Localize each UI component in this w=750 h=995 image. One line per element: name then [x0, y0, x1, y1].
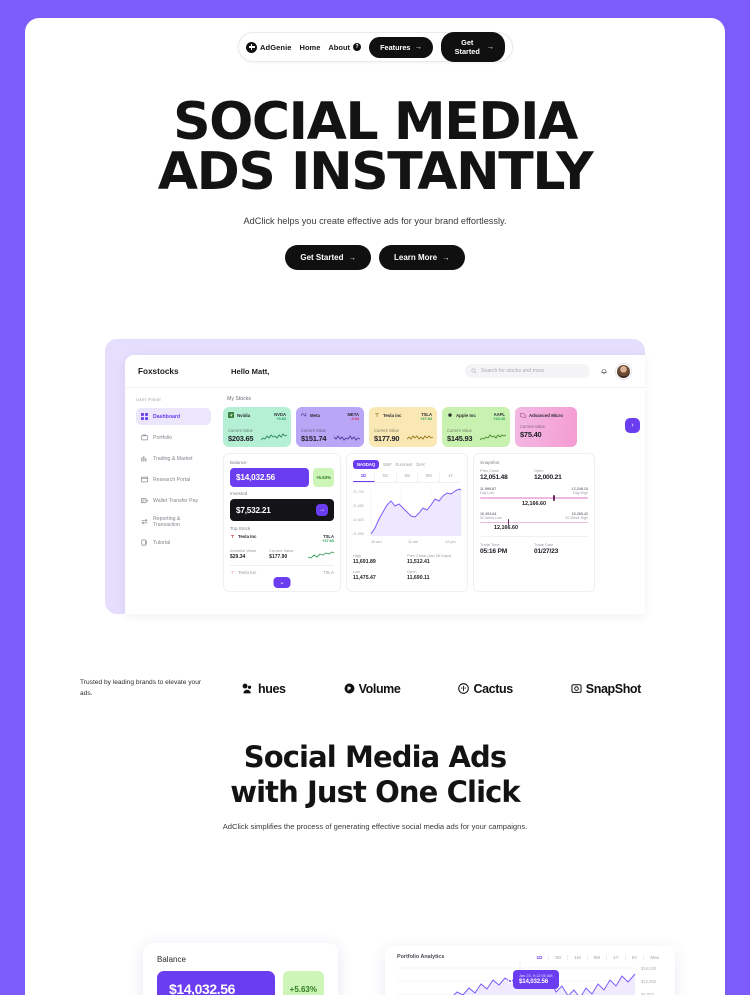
portfolio-analytics-ranges: 1D 5D 1M 6M 1Y 5Y Max: [531, 955, 665, 960]
sidebar-item-wallet-transfer-pay[interactable]: Wallet Transfer Pay: [136, 492, 211, 509]
balance-value: $14,032.56: [230, 468, 309, 487]
user-avatar[interactable]: [616, 364, 631, 379]
brand-logo[interactable]: AdGenie: [246, 42, 292, 53]
snapshot-day-current: 12,166.60: [480, 501, 588, 507]
arrow-right-icon: →: [487, 43, 495, 51]
features-button[interactable]: Features →: [369, 37, 433, 58]
snapshot-trade-time-value: 05:16 PM: [480, 548, 534, 555]
svg-text:12 pm: 12 pm: [445, 540, 456, 544]
analytics-range-1m[interactable]: 1M: [568, 955, 587, 960]
svg-text:11,700: 11,700: [353, 490, 364, 494]
features-button-label: Features: [380, 43, 410, 52]
section2-title-line1: Social Media Ads: [244, 740, 507, 774]
top-stock-name-secondary: Tesla Inc: [238, 570, 256, 575]
chart-stat-high-value: 11,691.89: [353, 559, 407, 565]
sidebar-item-tutorial[interactable]: Tutorial: [136, 534, 211, 551]
market-line-chart: 11,700 11,650 11,600 11,550: [353, 486, 463, 544]
snapshot-trade-date-value: 01/27/23: [534, 548, 588, 555]
stock-cards-next-button[interactable]: ›: [625, 418, 640, 433]
get-started-nav-button[interactable]: Get Started →: [441, 32, 505, 62]
invested-row: $7,532.21 →: [230, 499, 334, 521]
chart-range-tabs: 1D 5D 1M 6M 1Y: [353, 473, 461, 483]
analytics-tooltip: Jan 23, 9:12:05 AM $14,032.56: [513, 970, 559, 989]
snapshot-trade-date-label: Trade Date: [534, 542, 588, 547]
chart-stat-prev-close-label: Prev Close (Jan 26 Days): [407, 553, 461, 558]
analytics-tooltip-date: Jan 23, 9:12:05 AM: [519, 973, 553, 978]
stock-card[interactable]: Apple Inc AAPL +23.43 Current Value $145…: [442, 407, 510, 447]
top-stock-label: Top Stock: [230, 526, 334, 531]
bottom-balance-label: Balance: [157, 955, 324, 964]
market-tab-snp[interactable]: S&P: [383, 462, 391, 467]
sparkline-icon: [334, 433, 360, 442]
hero-learn-more-button[interactable]: Learn More →: [379, 245, 465, 270]
hero-get-started-button[interactable]: Get Started →: [285, 245, 371, 270]
analytics-range-max[interactable]: Max: [644, 955, 665, 960]
snapshot-day-high-label: Day High: [573, 491, 588, 495]
sidebar-item-portfolio[interactable]: Portfolio: [136, 429, 211, 446]
balance-label: Balance: [230, 460, 334, 465]
top-stock-current-value: $177.90: [269, 554, 293, 560]
sidebar-item-wallet-transfer-pay-label: Wallet Transfer Pay: [153, 498, 198, 504]
hero-cta-group: Get Started → Learn More →: [25, 245, 725, 270]
info-badge-icon: ?: [353, 43, 361, 51]
hero-subtitle: AdClick helps you create effective ads f…: [25, 214, 725, 228]
nvidia-icon: [228, 412, 234, 418]
invested-value: $7,532.21: [236, 506, 271, 515]
hues-icon: [241, 682, 254, 695]
dashboard-panels: Balance $14,032.56 +5.63% Invested $7,53…: [223, 453, 637, 592]
snapshot-title: Snapshot: [480, 460, 588, 465]
stock-card-name: Advanced Micro: [529, 413, 563, 418]
market-tabs: NASDAQ S&P Euronext DAX: [353, 460, 461, 469]
bottom-balance-change-badge: +5.63%: [283, 971, 324, 995]
top-stock-invested-label: Invested Value: [230, 548, 256, 553]
analytics-range-5d[interactable]: 5D: [549, 955, 568, 960]
expand-more-button[interactable]: ⌄: [274, 577, 291, 588]
snapshot-panel: Snapshot Prev Close 12,051.48 Open 12,00…: [473, 453, 595, 592]
market-tab-euronext[interactable]: Euronext: [396, 462, 413, 467]
chart-stats: High 11,691.89 Prev Close (Jan 26 Days) …: [353, 553, 461, 585]
dashboard-search-input[interactable]: Search for stocks and more: [465, 364, 590, 378]
top-stock-row[interactable]: Tesla Inc TSLA +27.63: [230, 534, 334, 544]
hero-section: SOCIAL MEDIA ADS INSTANTLY AdClick helps…: [25, 98, 725, 270]
top-stock-current-label: Current Value: [269, 548, 293, 553]
svg-text:10 am: 10 am: [371, 540, 382, 544]
wallet-icon: [141, 497, 148, 504]
sparkline-icon: [261, 433, 287, 442]
snapshot-52week-current: 12,166.60: [480, 525, 588, 531]
chart-stat-open: Open 11,690.11: [407, 569, 461, 581]
snapshot-prev-close-label: Prev Close: [480, 468, 534, 473]
chart-stat-low-label: Low: [353, 569, 407, 574]
chart-stat-open-value: 11,690.11: [407, 575, 461, 581]
volume-icon: [344, 683, 355, 694]
stock-card-change: +23.43: [493, 417, 505, 422]
grid-icon: [141, 413, 148, 420]
top-stock-change: +27.63: [322, 539, 334, 544]
portfolio-analytics-card: Portfolio Analytics 1D 5D 1M 6M 1Y 5Y Ma…: [385, 946, 675, 995]
chart-range-1m[interactable]: 1M: [397, 473, 419, 482]
portfolio-analytics-title: Portfolio Analytics: [397, 954, 444, 960]
tesla-icon: [374, 412, 380, 418]
analytics-tooltip-value: $14,032.56: [519, 978, 553, 985]
hero-learn-more-label: Learn More: [394, 253, 437, 262]
chart-range-5d[interactable]: 5D: [375, 473, 397, 482]
balance-panel: Balance $14,032.56 +5.63% Invested $7,53…: [223, 453, 341, 592]
svg-text:11 am: 11 am: [408, 540, 418, 544]
snapshot-day-low-label: Day Low: [480, 491, 494, 495]
briefcase-icon: [141, 434, 148, 441]
sidebar-item-research-portal[interactable]: Research Portal: [136, 471, 211, 488]
tesla-icon: [230, 534, 235, 539]
market-tab-dax[interactable]: DAX: [416, 462, 425, 467]
analytics-range-5y[interactable]: 5Y: [626, 955, 645, 960]
top-stock-invested-value: $29.34: [230, 554, 256, 560]
analytics-ylabel-1: $12,000: [641, 979, 657, 984]
meta-icon: [301, 412, 307, 418]
plus-circle-icon: [246, 42, 257, 53]
snapshot-52week-low-label: 52 Week Low: [480, 516, 502, 520]
invested-label: Invested: [230, 491, 334, 496]
top-stock-ticker: TSLA: [323, 534, 334, 539]
analytics-range-1d[interactable]: 1D: [531, 955, 550, 960]
apple-icon: [447, 412, 453, 418]
invested-go-button[interactable]: →: [316, 504, 328, 516]
stock-card-name: Apple Inc: [456, 413, 476, 418]
stock-card[interactable]: Tesla inc TSLA +27.63 Current Value $177…: [369, 407, 437, 447]
sidebar-item-portfolio-label: Portfolio: [153, 435, 172, 441]
brand-logo-hues-label: hues: [258, 682, 286, 696]
snapshot-day-range: 11,999.87 12,248.15 Day Low Day High 12,…: [480, 487, 588, 507]
bottom-balance-value: $14,032.56: [157, 971, 275, 995]
market-tab-nasdaq[interactable]: NASDAQ: [353, 460, 379, 469]
snapshot-prev-close-value: 12,051.48: [480, 474, 534, 481]
page-sheet: AdGenie Home About ? Features → Get Star…: [25, 18, 725, 995]
analytics-range-6m[interactable]: 6M: [588, 955, 607, 960]
stock-card[interactable]: Advanced Micro Current Value $75.40: [515, 407, 577, 447]
snapshot-52week-range: 10,493.64 15,265.42 52 Week Low 52 Week …: [480, 512, 588, 532]
arrow-right-icon: →: [442, 254, 450, 262]
svg-text:11,650: 11,650: [353, 504, 364, 508]
hero-title: SOCIAL MEDIA ADS INSTANTLY: [25, 98, 725, 198]
dashboard-logo: Foxstocks: [138, 367, 231, 376]
sidebar-item-reporting-transaction-label: Reporting & Transaction: [153, 516, 206, 528]
sidebar-item-trading-market[interactable]: Trading & Market: [136, 450, 211, 467]
stock-card-change: -6.94: [347, 417, 359, 422]
chart-range-1d[interactable]: 1D: [353, 473, 375, 482]
sidebar-item-dashboard[interactable]: Dashboard: [136, 408, 211, 425]
day-range-marker: [553, 495, 554, 501]
brands-note: Trusted by leading brands to elevate you…: [80, 678, 212, 699]
transfer-icon: [141, 518, 148, 525]
balance-change-badge: +5.63%: [313, 468, 334, 487]
stock-card-name: Meta: [310, 413, 320, 418]
snapshot-52week-high-label: 52 Week High: [565, 516, 588, 520]
brand-name: AdGenie: [260, 43, 292, 52]
analytics-ylabel-0: $16,000: [641, 966, 657, 971]
hero-title-line2: ADS INSTANTLY: [25, 148, 725, 198]
brand-logo-volume: Volume: [344, 682, 401, 696]
dashboard-greeting: Hello Matt,: [231, 367, 465, 376]
stock-card-change: +0.83: [274, 417, 286, 422]
sidebar-caption: User Panel: [136, 397, 211, 402]
stock-cards-row: Nvidia NVDA +0.83 Current Value $203.65: [223, 407, 637, 447]
chart-stat-high: High 11,691.89: [353, 553, 407, 565]
chart-stat-low-value: 11,475.47: [353, 575, 407, 581]
svg-text:11,550: 11,550: [353, 532, 364, 536]
sparkline-icon: [407, 433, 433, 442]
navbar: AdGenie Home About ? Features → Get Star…: [238, 32, 513, 62]
brand-logo-snapshot-label: SnapShot: [586, 682, 641, 696]
snapshot-trade-time-label: Trade Time: [480, 542, 534, 547]
dashboard-main: My Stocks Nvidia NVDA: [218, 388, 645, 614]
chart-stat-prev-close: Prev Close (Jan 26 Days) 11,512.41: [407, 553, 461, 565]
chart-stat-high-label: High: [353, 553, 407, 558]
sidebar-item-tutorial-label: Tutorial: [153, 540, 170, 546]
snapshot-open-value: 12,000.21: [534, 474, 588, 481]
book-icon: [141, 539, 148, 546]
section2-subtitle: AdClick simplifies the process of genera…: [25, 822, 725, 831]
brand-logo-snapshot: SnapShot: [571, 682, 641, 696]
notification-bell-icon[interactable]: [600, 362, 608, 380]
brand-logo-cactus-label: Cactus: [473, 682, 512, 696]
top-stock-row-secondary[interactable]: Tesla Inc TSLA: [230, 570, 334, 575]
nav-link-home[interactable]: Home: [300, 43, 321, 52]
dashboard-mockup-frame: Foxstocks Hello Matt, Search for stocks …: [105, 339, 645, 614]
snapshot-trade-time: Trade Time 05:16 PM: [480, 542, 534, 555]
hero-get-started-label: Get Started: [300, 253, 343, 262]
snapshot-open-label: Open: [534, 468, 588, 473]
search-icon: [471, 368, 477, 374]
window-icon: [141, 476, 148, 483]
arrow-right-icon: →: [349, 254, 357, 262]
section2-title-line2: with Just One Click: [25, 775, 725, 810]
chart-range-1y[interactable]: 1Y: [440, 473, 461, 482]
section2: Social Media Ads with Just One Click AdC…: [25, 740, 725, 831]
nav-link-about[interactable]: About ?: [328, 43, 361, 52]
stock-card-change: +27.63: [420, 417, 432, 422]
sparkline-icon: [308, 551, 334, 560]
bottom-balance-card: Balance $14,032.56 +5.63%: [143, 943, 338, 995]
brand-logo-cactus: Cactus: [458, 682, 512, 696]
stock-card-name: Nvidia: [237, 413, 250, 418]
dashboard-search-placeholder: Search for stocks and more: [481, 368, 544, 374]
amd-icon: [520, 412, 526, 418]
chart-range-6m[interactable]: 6M: [418, 473, 440, 482]
brand-logo-volume-label: Volume: [359, 682, 401, 696]
stock-card-name: Tesla inc: [383, 413, 401, 418]
arrow-right-icon: →: [414, 43, 422, 51]
get-started-nav-label: Get Started: [452, 38, 483, 56]
page-root: AdGenie Home About ? Features → Get Star…: [0, 0, 750, 995]
chart-stat-prev-close-value: 11,512.41: [407, 559, 461, 565]
chart-stat-open-label: Open: [407, 569, 461, 574]
bar-chart-icon: [141, 455, 148, 462]
cactus-icon: [458, 683, 469, 694]
snapshot-trade-date: Trade Date 01/27/23: [534, 542, 588, 555]
section2-title: Social Media Ads with Just One Click: [25, 740, 725, 811]
stock-card-value: $75.40: [520, 430, 572, 439]
dashboard-mockup: Foxstocks Hello Matt, Search for stocks …: [125, 355, 645, 614]
analytics-hover-dot: [508, 979, 512, 983]
dashboard-sidebar: User Panel Dashboard: [125, 388, 218, 614]
dashboard-topbar: Foxstocks Hello Matt, Search for stocks …: [125, 355, 645, 388]
chart-stat-low: Low 11,475.47: [353, 569, 407, 581]
svg-text:11,600: 11,600: [353, 518, 364, 522]
dashboard-body: User Panel Dashboard: [125, 388, 645, 614]
top-stock-name: Tesla Inc: [238, 534, 256, 539]
my-stocks-label: My Stocks: [227, 396, 637, 402]
sidebar-item-research-portal-label: Research Portal: [153, 477, 190, 483]
nav-link-about-label: About: [328, 43, 350, 52]
brands-strip: Trusted by leading brands to elevate you…: [25, 678, 725, 699]
stock-card-value-label: Current Value: [520, 424, 572, 429]
snapshot-prev-close: Prev Close 12,051.48: [480, 468, 534, 481]
brand-logo-hues: hues: [241, 682, 286, 696]
sidebar-item-reporting-transaction[interactable]: Reporting & Transaction: [136, 513, 211, 530]
top-stock-ticker-secondary: TSLA: [323, 570, 334, 575]
tesla-icon: [230, 570, 235, 575]
brands-logo-list: hues Volume Cactus: [212, 682, 670, 696]
sparkline-icon: [480, 433, 506, 442]
snapshot-open: Open 12,000.21: [534, 468, 588, 481]
sidebar-item-dashboard-label: Dashboard: [153, 414, 180, 420]
snapshot-icon: [571, 683, 582, 694]
analytics-range-1y[interactable]: 1Y: [607, 955, 626, 960]
stock-card[interactable]: Nvidia NVDA +0.83 Current Value $203.65: [223, 407, 291, 447]
sidebar-item-trading-market-label: Trading & Market: [153, 456, 193, 462]
market-chart-panel: NASDAQ S&P Euronext DAX 1D 5D 1M 6M: [346, 453, 468, 592]
stock-card[interactable]: Meta META -6.94 Current Value $151.74: [296, 407, 364, 447]
